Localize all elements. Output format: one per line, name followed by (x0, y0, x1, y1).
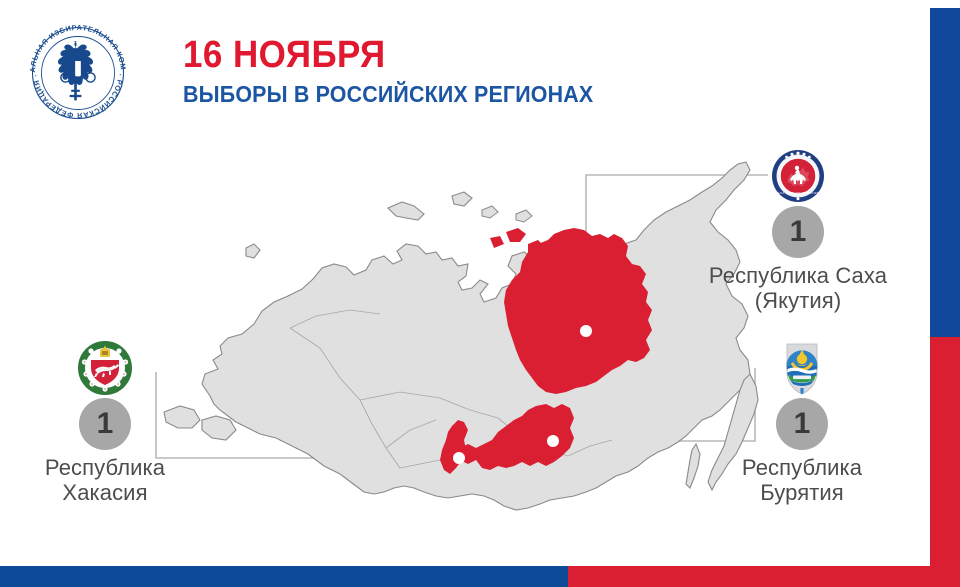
region-label: Республика Хакасия (0, 456, 215, 506)
title-block: 16 НОЯБРЯ ВЫБОРЫ В РОССИЙСКИХ РЕГИОНАХ (183, 36, 624, 106)
header: ЦЕНТРАЛЬНАЯ ИЗБИРАТЕЛЬНАЯ КОМИССИЯ · РОС… (0, 0, 700, 140)
region-count-badge: 1 (772, 206, 824, 258)
region-label-line1: Республика (692, 456, 912, 481)
arctic-islet-b (516, 210, 532, 222)
page-title: 16 НОЯБРЯ (183, 36, 589, 74)
marker-buryatia (547, 435, 559, 447)
russia-map (150, 148, 770, 518)
region-sakha-island-a (506, 228, 526, 242)
region-label-line2: Бурятия (692, 481, 912, 506)
infographic-canvas: ЦЕНТРАЛЬНАЯ ИЗБИРАТЕЛЬНАЯ КОМИССИЯ · РОС… (0, 0, 960, 587)
page-subtitle: ВЫБОРЫ В РОССИЙСКИХ РЕГИОНАХ (183, 83, 593, 106)
arctic-islet-a (482, 206, 498, 218)
accent-bar-right-blue (930, 8, 960, 337)
buryatia-coat-of-arms-icon (774, 340, 830, 398)
accent-bar-right-red (930, 337, 960, 569)
sakha-yakutia-coat-of-arms-icon: САХА ӨРӨСПҮҮБҮЛҮКЭТЭ (770, 148, 826, 206)
novaya-zemlya (388, 202, 424, 220)
marker-sakha (580, 325, 592, 337)
cec-russia-emblem-icon: ЦЕНТРАЛЬНАЯ ИЗБИРАТЕЛЬНАЯ КОМИССИЯ · РОС… (22, 17, 134, 129)
region-label-line2: Хакасия (0, 481, 215, 506)
region-label-line1: Республика Саха (688, 264, 908, 289)
region-count-badge: 1 (79, 398, 131, 450)
severnaya-zemlya (452, 192, 472, 206)
region-label-line1: Республика (0, 456, 215, 481)
khakassia-coat-of-arms-icon (77, 340, 133, 398)
svg-text:САХА ӨРӨСПҮҮБҮЛҮКЭТЭ: САХА ӨРӨСПҮҮБҮЛҮКЭТЭ (775, 191, 821, 195)
russia-map-svg (150, 148, 770, 518)
region-label-line2: (Якутия) (688, 289, 908, 314)
marker-khakassia (453, 452, 465, 464)
region-sakha-island-c (490, 236, 504, 248)
callout-sakha[interactable]: САХА ӨРӨСПҮҮБҮЛҮКЭТЭ 1 Республика Саха (… (688, 148, 908, 314)
callout-buryatia[interactable]: 1 Республика Бурятия (692, 340, 912, 506)
northwest-islands (246, 244, 260, 258)
region-count-badge: 1 (776, 398, 828, 450)
accent-bar-bottom-blue (0, 566, 568, 587)
accent-bar-bottom-red (568, 566, 960, 587)
callout-khakassia[interactable]: 1 Республика Хакасия (0, 340, 215, 506)
region-label: Республика Бурятия (692, 456, 912, 506)
region-label: Республика Саха (Якутия) (688, 264, 908, 314)
